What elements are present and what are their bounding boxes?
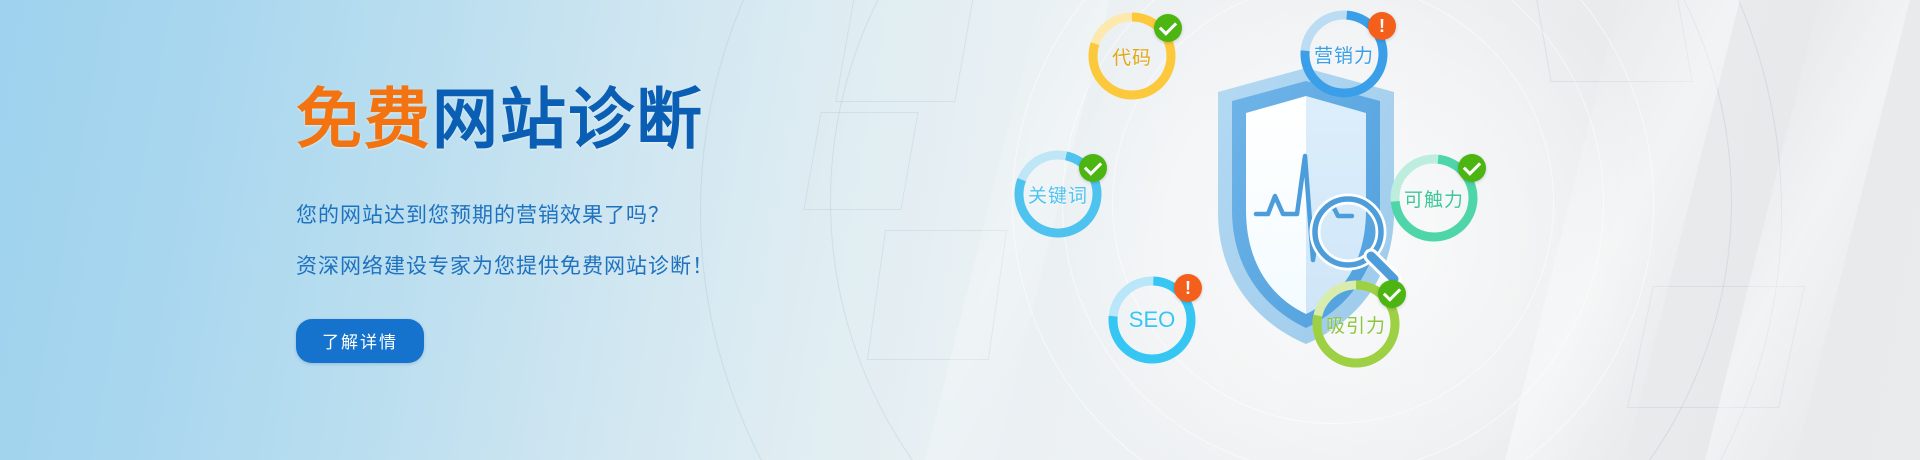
- headline-rest: 网站诊断: [432, 82, 704, 156]
- badge-seo[interactable]: SEO !: [1104, 272, 1200, 368]
- page-title: 免费网站诊断: [296, 86, 856, 152]
- banner-copy: 免费网站诊断 您的网站达到您预期的营销效果了吗？ 资深网络建设专家为您提供免费网…: [296, 86, 856, 363]
- exclamation-icon: !: [1368, 12, 1396, 40]
- check-icon: [1378, 280, 1406, 308]
- headline-highlight: 免费: [296, 82, 432, 156]
- check-icon: [1079, 154, 1107, 182]
- decor-polygon-3: [867, 230, 1007, 360]
- subtitle-line-1: 您的网站达到您预期的营销效果了吗？: [296, 205, 856, 226]
- badge-reachability[interactable]: 可触力: [1386, 150, 1482, 246]
- learn-more-button[interactable]: 了解详情: [296, 319, 424, 363]
- badge-attractiveness[interactable]: 吸引力: [1308, 276, 1404, 372]
- check-icon: [1458, 154, 1486, 182]
- badge-code[interactable]: 代码: [1084, 8, 1180, 104]
- check-icon: [1154, 14, 1182, 42]
- decor-polygon-1: [835, 0, 977, 102]
- diagnosis-graphic: 代码 营销力 ! 关键词 可触力: [1000, 0, 1700, 460]
- decor-sheen-2: [1690, 0, 1920, 460]
- badge-keyword[interactable]: 关键词: [1010, 146, 1106, 242]
- exclamation-icon: !: [1174, 274, 1202, 302]
- badge-marketing[interactable]: 营销力 !: [1296, 6, 1392, 102]
- free-website-diagnosis-banner: 免费网站诊断 您的网站达到您预期的营销效果了吗？ 资深网络建设专家为您提供免费网…: [0, 0, 1920, 460]
- subtitle-line-2: 资深网络建设专家为您提供免费网站诊断！: [296, 256, 856, 277]
